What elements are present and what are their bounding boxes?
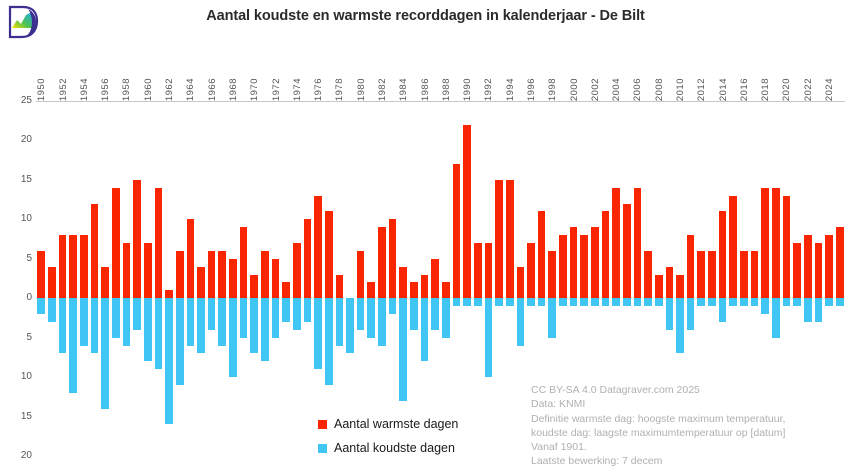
y-axis-tick: 10 <box>2 214 32 224</box>
y-axis-tick: 15 <box>2 175 32 185</box>
bar-warm <box>80 235 88 298</box>
x-axis-tick: 2018 <box>760 78 771 101</box>
bar-warm <box>783 196 791 299</box>
bar-warm <box>687 235 695 298</box>
footer-line: Laatste bewerking: 7 decem <box>531 454 785 468</box>
x-axis-tick: 1998 <box>547 78 558 101</box>
bar-warm <box>761 188 769 298</box>
bar-cold <box>495 298 503 306</box>
bar-cold <box>336 298 344 345</box>
bar-cold <box>155 298 163 369</box>
x-axis: 1950195219541956195819601962196419661968… <box>36 56 845 101</box>
bar-cold <box>538 298 546 306</box>
y-axis: 25201510505101520 <box>0 101 32 461</box>
y-axis-tick: 25 <box>2 96 32 106</box>
bar-cold <box>761 298 769 314</box>
bar-warm <box>825 235 833 298</box>
bar-warm <box>623 204 631 299</box>
bar-cold <box>634 298 642 306</box>
bar-cold <box>825 298 833 306</box>
bar-cold <box>655 298 663 306</box>
bar-cold <box>346 298 354 353</box>
bar-warm <box>357 251 365 298</box>
bar-warm <box>367 282 375 298</box>
bar-warm <box>240 227 248 298</box>
bar-warm <box>218 251 226 298</box>
bar-cold <box>591 298 599 306</box>
bar-cold <box>719 298 727 322</box>
bar-warm <box>580 235 588 298</box>
x-axis-tick: 1970 <box>249 78 260 101</box>
bar-cold <box>463 298 471 306</box>
bar-cold <box>485 298 493 377</box>
bar-warm <box>229 259 237 298</box>
bar-cold <box>399 298 407 401</box>
bar-warm <box>517 267 525 299</box>
x-axis-tick: 1990 <box>462 78 473 101</box>
bar-cold <box>165 298 173 424</box>
bar-warm <box>612 188 620 298</box>
bar-cold <box>410 298 418 330</box>
x-axis-tick: 1984 <box>398 78 409 101</box>
bar-warm <box>559 235 567 298</box>
bar-warm <box>399 267 407 299</box>
bar-warm <box>144 243 152 298</box>
footer-credits: CC BY-SA 4.0 Datagraver.com 2025Data: KN… <box>531 383 785 469</box>
x-axis-tick: 1978 <box>334 78 345 101</box>
bar-cold <box>187 298 195 345</box>
bar-warm <box>548 251 556 298</box>
x-axis-tick: 1952 <box>58 78 69 101</box>
bar-cold <box>697 298 705 306</box>
bar-warm <box>538 211 546 298</box>
footer-line: Definitie warmste dag: hoogste maximum t… <box>531 412 785 426</box>
x-axis-tick: 1962 <box>164 78 175 101</box>
bar-cold <box>740 298 748 306</box>
bar-cold <box>229 298 237 377</box>
bar-cold <box>751 298 759 306</box>
bar-cold <box>474 298 482 306</box>
bar-warm <box>729 196 737 299</box>
legend-label: Aantal koudste dagen <box>334 441 455 455</box>
bar-warm <box>155 188 163 298</box>
bar-cold <box>527 298 535 306</box>
bar-cold <box>250 298 258 353</box>
bar-warm <box>836 227 844 298</box>
bar-cold <box>325 298 333 385</box>
x-axis-tick: 2004 <box>611 78 622 101</box>
y-axis-tick: 10 <box>2 372 32 382</box>
bar-cold <box>676 298 684 353</box>
bar-cold <box>623 298 631 306</box>
bar-warm <box>133 180 141 298</box>
x-axis-tick: 2008 <box>654 78 665 101</box>
bar-cold <box>389 298 397 314</box>
bar-warm <box>751 251 759 298</box>
bar-warm <box>112 188 120 298</box>
bar-warm <box>804 235 812 298</box>
bar-cold <box>421 298 429 361</box>
bar-warm <box>176 251 184 298</box>
bar-cold <box>602 298 610 306</box>
x-axis-tick: 1956 <box>100 78 111 101</box>
bar-warm <box>37 251 45 298</box>
bar-cold <box>506 298 514 306</box>
bar-cold <box>282 298 290 322</box>
bar-cold <box>272 298 280 337</box>
x-axis-tick: 2000 <box>569 78 580 101</box>
bar-warm <box>740 251 748 298</box>
bar-cold <box>570 298 578 306</box>
footer-line: CC BY-SA 4.0 Datagraver.com 2025 <box>531 383 785 397</box>
bar-warm <box>208 251 216 298</box>
x-axis-tick: 1966 <box>207 78 218 101</box>
bar-warm <box>495 180 503 298</box>
y-axis-tick: 20 <box>2 135 32 145</box>
x-axis-tick: 2010 <box>675 78 686 101</box>
bar-cold <box>772 298 780 337</box>
bar-warm <box>666 267 674 299</box>
bar-warm <box>676 275 684 299</box>
bar-warm <box>91 204 99 299</box>
bar-warm <box>697 251 705 298</box>
y-axis-tick: 0 <box>2 293 32 303</box>
footer-line: Data: KNMI <box>531 397 785 411</box>
bar-cold <box>133 298 141 330</box>
y-axis-tick: 5 <box>2 254 32 264</box>
bar-cold <box>815 298 823 322</box>
bar-cold <box>804 298 812 322</box>
chart-page: Aantal koudste en warmste recorddagen in… <box>0 0 851 469</box>
bar-warm <box>59 235 67 298</box>
bar-cold <box>559 298 567 306</box>
x-axis-tick: 2024 <box>824 78 835 101</box>
bar-cold <box>453 298 461 306</box>
bar-warm <box>463 125 471 299</box>
bar-cold <box>357 298 365 330</box>
bar-cold <box>793 298 801 306</box>
bar-cold <box>48 298 56 322</box>
y-axis-tick: 15 <box>2 412 32 422</box>
legend-item[interactable]: Aantal koudste dagen <box>318 436 458 460</box>
x-axis-tick: 1968 <box>228 78 239 101</box>
bar-cold <box>548 298 556 337</box>
bar-warm <box>591 227 599 298</box>
x-axis-tick: 1964 <box>185 78 196 101</box>
x-axis-tick: 1958 <box>121 78 132 101</box>
bar-cold <box>91 298 99 353</box>
bar-warm <box>506 180 514 298</box>
bar-warm <box>272 259 280 298</box>
x-axis-tick: 2014 <box>718 78 729 101</box>
bar-warm <box>570 227 578 298</box>
bar-warm <box>421 275 429 299</box>
bar-cold <box>644 298 652 306</box>
x-axis-tick: 1994 <box>505 78 516 101</box>
bar-warm <box>602 211 610 298</box>
bar-cold <box>367 298 375 337</box>
bar-cold <box>208 298 216 330</box>
bar-cold <box>729 298 737 306</box>
bar-warm <box>431 259 439 298</box>
x-axis-tick: 1974 <box>292 78 303 101</box>
bar-warm <box>69 235 77 298</box>
bar-cold <box>687 298 695 330</box>
bar-cold <box>314 298 322 369</box>
bar-warm <box>442 282 450 298</box>
bar-cold <box>836 298 844 306</box>
legend-label: Aantal warmste dagen <box>334 417 458 431</box>
bar-warm <box>261 251 269 298</box>
bar-cold <box>378 298 386 345</box>
bar-cold <box>59 298 67 353</box>
x-axis-tick: 1988 <box>441 78 452 101</box>
bar-cold <box>37 298 45 314</box>
page-title: Aantal koudste en warmste recorddagen in… <box>0 8 851 24</box>
bar-warm <box>197 267 205 299</box>
x-axis-tick: 2016 <box>739 78 750 101</box>
bar-warm <box>282 282 290 298</box>
bar-warm <box>815 243 823 298</box>
chart-legend: Aantal warmste dagenAantal koudste dagen <box>318 412 458 460</box>
bar-cold <box>431 298 439 330</box>
x-axis-tick: 2022 <box>803 78 814 101</box>
bar-cold <box>176 298 184 385</box>
bar-warm <box>719 211 727 298</box>
footer-line: Vanaf 1901. <box>531 440 785 454</box>
bar-warm <box>634 188 642 298</box>
bar-cold <box>144 298 152 361</box>
bar-warm <box>165 290 173 298</box>
x-axis-tick: 2020 <box>781 78 792 101</box>
bar-cold <box>123 298 131 345</box>
bar-warm <box>325 211 333 298</box>
x-axis-tick: 2006 <box>632 78 643 101</box>
bar-cold <box>666 298 674 330</box>
bar-warm <box>187 219 195 298</box>
legend-swatch-icon <box>318 420 327 429</box>
x-axis-tick: 1986 <box>420 78 431 101</box>
bar-cold <box>304 298 312 322</box>
x-axis-tick: 1976 <box>313 78 324 101</box>
bar-warm <box>474 243 482 298</box>
bar-warm <box>123 243 131 298</box>
bar-cold <box>517 298 525 345</box>
y-axis-tick: 20 <box>2 451 32 461</box>
x-axis-tick: 1980 <box>356 78 367 101</box>
bar-cold <box>197 298 205 353</box>
bar-cold <box>293 298 301 330</box>
bar-warm <box>708 251 716 298</box>
bar-warm <box>378 227 386 298</box>
bar-cold <box>783 298 791 306</box>
x-axis-tick: 2002 <box>590 78 601 101</box>
bar-warm <box>389 219 397 298</box>
bar-warm <box>410 282 418 298</box>
bar-cold <box>261 298 269 361</box>
x-axis-tick: 2012 <box>696 78 707 101</box>
x-axis-tick: 1960 <box>143 78 154 101</box>
bar-cold <box>112 298 120 337</box>
bar-warm <box>453 164 461 298</box>
bar-cold <box>612 298 620 306</box>
bar-cold <box>69 298 77 393</box>
x-axis-tick: 1982 <box>377 78 388 101</box>
bar-warm <box>644 251 652 298</box>
bar-cold <box>80 298 88 345</box>
bar-cold <box>101 298 109 408</box>
bar-warm <box>48 267 56 299</box>
legend-item[interactable]: Aantal warmste dagen <box>318 412 458 436</box>
bar-warm <box>527 243 535 298</box>
footer-line: koudste dag: laagste maximumtemperatuur … <box>531 426 785 440</box>
bar-warm <box>336 275 344 299</box>
bar-cold <box>708 298 716 306</box>
bar-warm <box>250 275 258 299</box>
bar-warm <box>485 243 493 298</box>
x-axis-tick: 1954 <box>79 78 90 101</box>
y-axis-tick: 5 <box>2 333 32 343</box>
bar-warm <box>293 243 301 298</box>
bar-warm <box>793 243 801 298</box>
x-axis-tick: 1950 <box>36 78 47 101</box>
bar-warm <box>772 188 780 298</box>
bar-warm <box>101 267 109 299</box>
x-axis-tick: 1972 <box>271 78 282 101</box>
bar-warm <box>304 219 312 298</box>
legend-swatch-icon <box>318 444 327 453</box>
bar-cold <box>240 298 248 337</box>
bar-warm <box>655 275 663 299</box>
bar-cold <box>442 298 450 337</box>
bar-cold <box>580 298 588 306</box>
x-axis-tick: 1996 <box>526 78 537 101</box>
x-axis-tick: 1992 <box>483 78 494 101</box>
bar-warm <box>314 196 322 299</box>
bar-cold <box>218 298 226 345</box>
